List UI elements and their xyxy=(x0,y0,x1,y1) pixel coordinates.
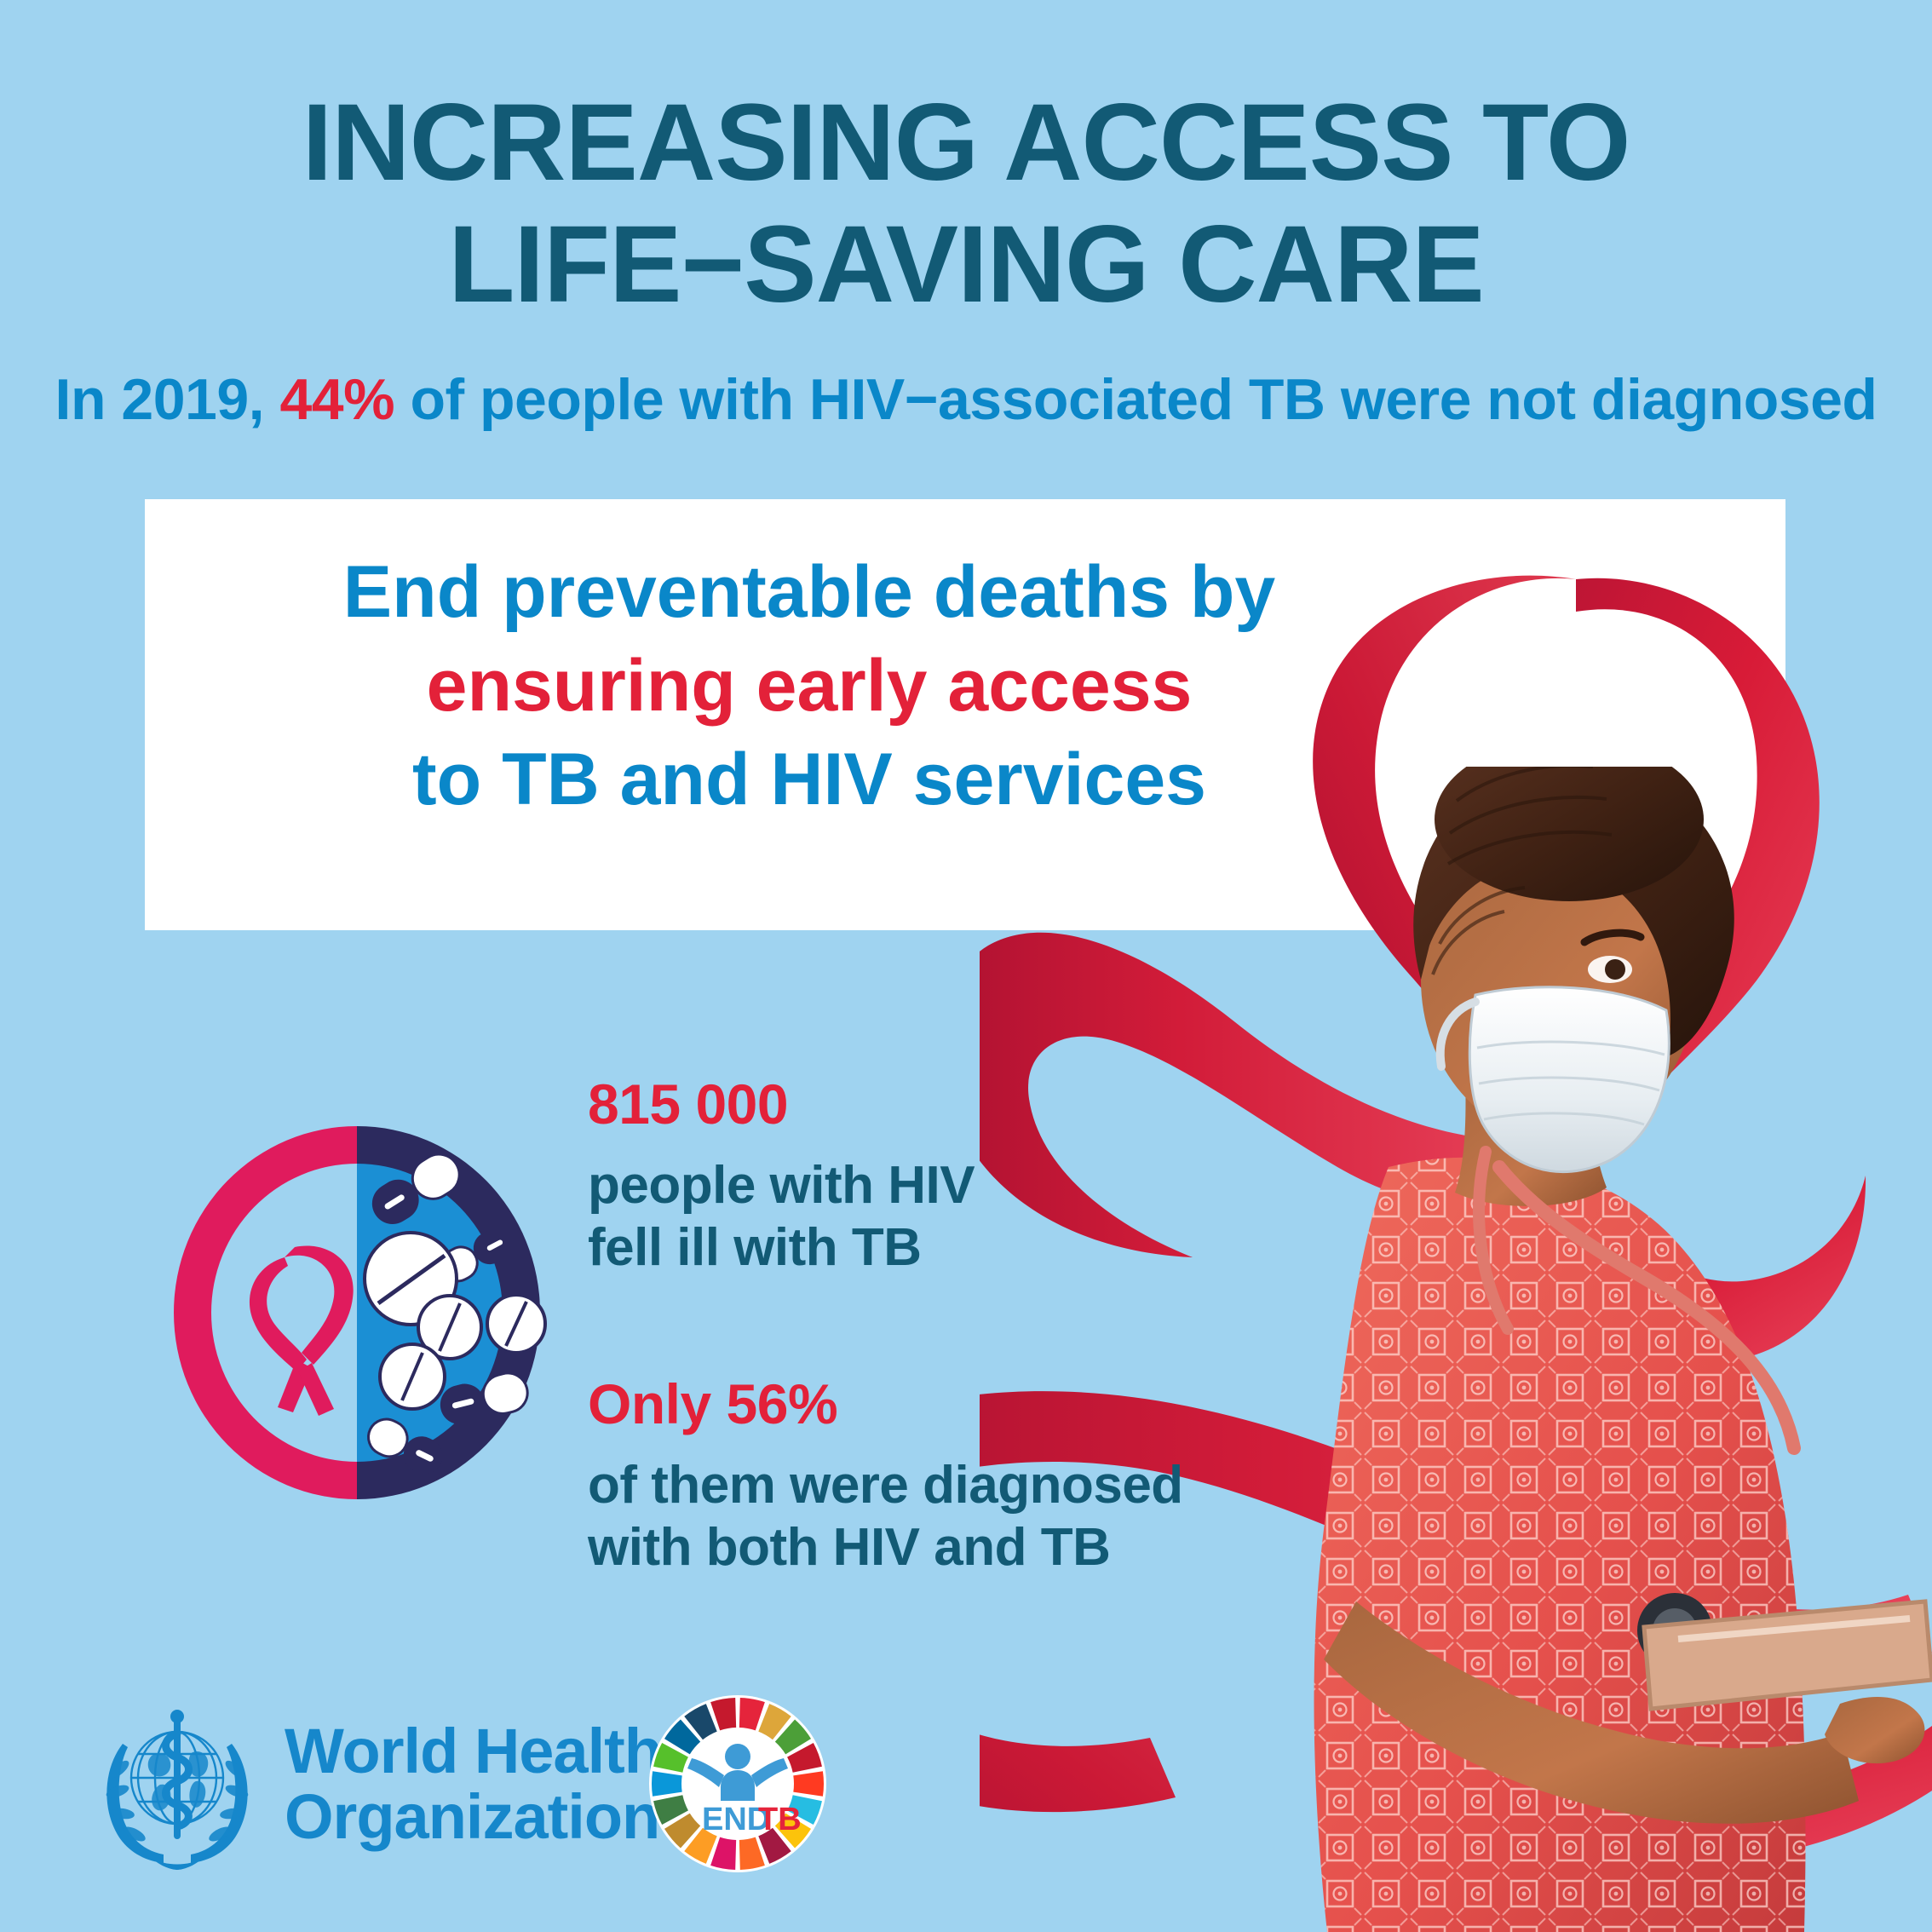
nurse-with-mask-photo xyxy=(1133,767,1932,1932)
who-wordmark: World Health Organization xyxy=(285,1719,662,1850)
tablet-mid-2 xyxy=(487,1295,545,1353)
stat-1-line-2: fell ill with TB xyxy=(588,1216,975,1279)
stat-2-number: Only 56% xyxy=(588,1371,1183,1437)
callout-line-3: to TB and HIV services xyxy=(145,733,1474,826)
subtitle-suffix: of people with HIV−associated TB were no… xyxy=(394,367,1877,432)
subtitle: In 2019, 44% of people with HIV−associat… xyxy=(0,366,1932,433)
aids-ribbon-icon xyxy=(250,1246,354,1416)
stat-block-people-fell-ill: 815 000 people with HIV fell ill with TB xyxy=(588,1072,975,1279)
stat-1-number: 815 000 xyxy=(588,1072,975,1137)
infographic-canvas: INCREASING ACCESS TO LIFE−SAVING CARE In… xyxy=(0,0,1932,1932)
sdg-wheel-segment xyxy=(652,1771,682,1797)
tablet-lower xyxy=(380,1344,445,1409)
who-wordmark-line-2: Organization xyxy=(285,1785,662,1850)
who-logo: World Health Organization xyxy=(89,1687,719,1883)
pill-circle-icon xyxy=(160,1113,554,1513)
subtitle-highlight-44-percent: 44% xyxy=(279,367,394,432)
stat-1-line-1: people with HIV xyxy=(588,1154,975,1216)
callout-message: End preventable deaths by ensuring early… xyxy=(145,545,1474,826)
stat-block-percent-diagnosed: Only 56% of them were diagnosed with bot… xyxy=(588,1371,1183,1578)
stat-1-spacer xyxy=(588,1137,975,1154)
callout-line-2: ensuring early access xyxy=(145,639,1474,733)
title-line-2: LIFE−SAVING CARE xyxy=(0,204,1932,325)
who-emblem-icon xyxy=(89,1696,266,1873)
nurse-iris xyxy=(1605,959,1625,980)
endtb-sdg-wheel-icon: END TB xyxy=(647,1693,828,1874)
stat-2-spacer xyxy=(588,1437,1183,1454)
sdg-wheel-segment xyxy=(793,1771,824,1797)
title-line-1: INCREASING ACCESS TO xyxy=(0,82,1932,204)
endtb-label-tb: TB xyxy=(758,1802,802,1837)
page-title: INCREASING ACCESS TO LIFE−SAVING CARE xyxy=(0,82,1932,326)
subtitle-prefix: In 2019, xyxy=(55,367,280,432)
who-wordmark-line-1: World Health xyxy=(285,1719,662,1785)
callout-line-1: End preventable deaths by xyxy=(145,545,1474,639)
stat-2-line-2: with both HIV and TB xyxy=(588,1516,1183,1578)
stat-2-line-1: of them were diagnosed xyxy=(588,1454,1183,1516)
